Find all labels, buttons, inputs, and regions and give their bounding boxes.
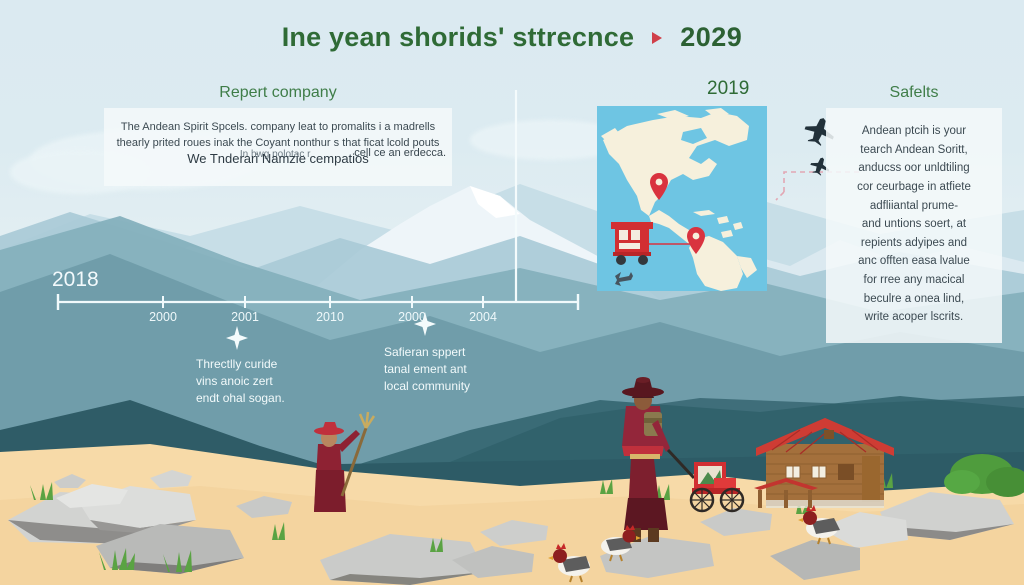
right-panel-line: repients adyipes and <box>836 234 992 253</box>
right-panel-line: adfliiantal prume- <box>836 197 992 216</box>
right-panel-line: and untions soert, at <box>836 215 992 234</box>
right-panel-line: beculre a onea lind, <box>836 290 992 309</box>
right-info-panel: Safelts Andean ptcih is your tearch Ande… <box>826 84 1002 343</box>
left-panel-overlap-lines: In hwg polotac r We Tnderari Namzie cemp… <box>104 150 452 169</box>
left-panel-line-1: The Andean Spirit Spcels. company leat t… <box>114 120 442 136</box>
left-panel-tail-text: cell ce an erdecca. <box>354 146 446 162</box>
left-panel-heading: Repert company <box>104 84 452 102</box>
right-panel-line: for rree any macical <box>836 271 992 290</box>
right-panel-line: cor ceurbage in atfiete <box>836 178 992 197</box>
page-title-row: Ine yean shorids' sttrecnce 2029 <box>0 22 1024 53</box>
illustration-canvas: Ine yean shorids' sttrecnce 2029 Repert … <box>0 0 1024 585</box>
right-panel-body: Andean ptcih is your tearch Andean Sorit… <box>826 108 1002 343</box>
left-panel-front-text: We Tnderari Namzie cempatios <box>187 151 369 166</box>
page-title-year: 2029 <box>680 22 742 53</box>
right-panel-line: Andean ptcih is your <box>836 122 992 141</box>
left-panel-body: The Andean Spirit Spcels. company leat t… <box>104 108 452 186</box>
right-panel-line: anc offten easa lvalue <box>836 252 992 271</box>
triangle-right-icon <box>652 32 662 44</box>
page-title: Ine yean shorids' sttrecnce <box>282 22 634 53</box>
left-info-panel: Repert company The Andean Spirit Spcels.… <box>104 84 452 186</box>
right-panel-line: write acoper lscrits. <box>836 308 992 327</box>
right-panel-heading: Safelts <box>826 84 1002 102</box>
right-panel-line: tearch Andean Soritt, <box>836 141 992 160</box>
right-panel-line: anducss oor unldtiling <box>836 159 992 178</box>
